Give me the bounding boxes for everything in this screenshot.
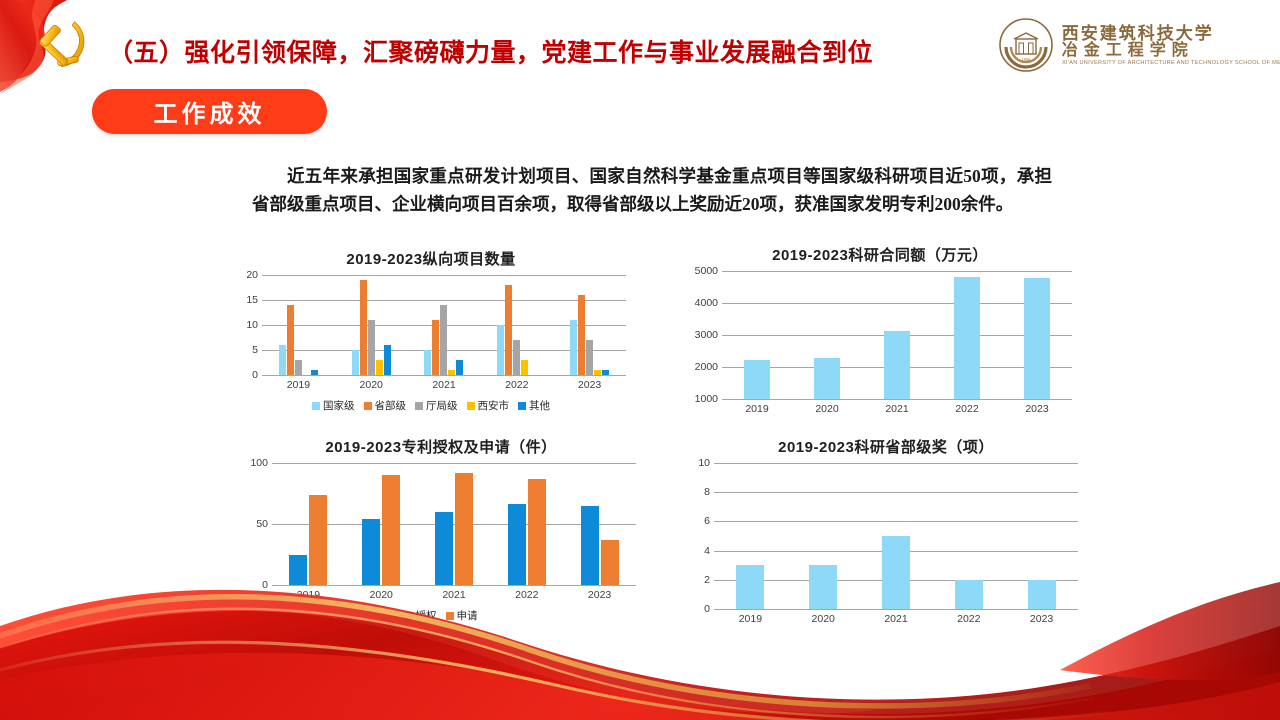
bar (376, 360, 383, 375)
bar (455, 473, 473, 585)
chart-plot-area: 10002000300040005000 (688, 271, 1072, 400)
bar-series-container (722, 271, 1072, 399)
y-axis-tick: 5 (252, 344, 258, 356)
bar (289, 555, 307, 586)
y-axis-tick: 100 (250, 457, 268, 469)
legend-item: 西安市 (467, 398, 510, 413)
y-axis-tick: 10 (246, 319, 258, 331)
university-seal-icon: 1956 (998, 17, 1054, 73)
bar (295, 360, 302, 375)
bar (352, 350, 359, 375)
university-name-line2: 冶金工程学院 (1062, 43, 1258, 60)
bar (601, 540, 619, 585)
bar-group (418, 463, 491, 585)
legend-item: 其他 (518, 398, 550, 413)
legend-item: 申请 (446, 608, 478, 623)
chart-legend: 授权申请 (246, 608, 636, 623)
bar (362, 519, 380, 585)
bar (384, 345, 391, 375)
bar-series-container (272, 463, 636, 585)
bar (360, 280, 367, 375)
hammer-sickle-emblem-icon (36, 18, 98, 80)
bar (602, 370, 609, 375)
x-axis-tick: 2022 (480, 379, 553, 391)
chart-provincial-awards: 2019-2023科研省部级奖（项）0246810201920202021202… (694, 436, 1078, 625)
slide: （五）强化引领保障，汇聚磅礴力量，党建工作与事业发展融合到位 工作成效 1956… (0, 0, 1280, 720)
x-axis-tick: 2022 (932, 613, 1005, 625)
bar-group (345, 463, 418, 585)
bar (882, 536, 910, 609)
x-axis-tick: 2021 (408, 379, 481, 391)
y-axis-tick: 6 (704, 515, 710, 527)
legend-label: 西安市 (478, 398, 510, 413)
bar (570, 320, 577, 375)
y-axis-tick: 3000 (695, 329, 718, 341)
university-name-line1: 西安建筑科技大学 (1062, 25, 1258, 43)
bar (578, 295, 585, 375)
y-axis-tick: 0 (704, 603, 710, 615)
legend-swatch (467, 402, 475, 410)
y-axis-tick: 8 (704, 486, 710, 498)
legend-item: 国家级 (312, 398, 355, 413)
x-axis-tick: 2021 (862, 403, 932, 415)
legend-item: 省部级 (364, 398, 407, 413)
chart-patents: 2019-2023专利授权及申请（件）050100201920202021202… (246, 436, 636, 623)
bar (497, 325, 504, 375)
chart-plot-area: 05101520 (236, 275, 626, 376)
bar (814, 358, 840, 399)
bar (1024, 278, 1050, 399)
y-axis-tick: 20 (246, 269, 258, 281)
y-axis: 05101520 (236, 275, 262, 375)
university-logo-text: 西安建筑科技大学 冶金工程学院 XI'AN UNIVERSITY OF ARCH… (1062, 25, 1258, 65)
bar (528, 479, 546, 585)
bar (586, 340, 593, 375)
chart-legend: 国家级省部级厅局级西安市其他 (236, 398, 626, 413)
bar (508, 504, 526, 585)
legend-label: 授权 (416, 608, 437, 623)
x-axis-tick: 2020 (335, 379, 408, 391)
legend-label: 申请 (457, 608, 478, 623)
bar-group (1005, 463, 1078, 609)
legend-swatch (518, 402, 526, 410)
y-axis-tick: 4000 (695, 297, 718, 309)
y-axis-tick: 0 (262, 579, 268, 591)
bar-group (714, 463, 787, 609)
bar (954, 277, 980, 399)
page-title: （五）强化引领保障，汇聚磅礴力量，党建工作与事业发展融合到位 (108, 33, 873, 69)
bar (744, 360, 770, 399)
university-name-english: XI'AN UNIVERSITY OF ARCHITECTURE AND TEC… (1062, 61, 1280, 67)
bar-group (480, 275, 553, 375)
plot-canvas (272, 463, 636, 586)
y-axis: 0246810 (694, 463, 714, 609)
bar (432, 320, 439, 375)
y-axis: 10002000300040005000 (688, 271, 722, 399)
x-axis: 20192020202120222023 (714, 613, 1078, 625)
x-axis-tick: 2020 (792, 403, 862, 415)
x-axis-tick: 2023 (553, 379, 626, 391)
y-axis-tick: 2 (704, 574, 710, 586)
legend-label: 其他 (529, 398, 550, 413)
bar-group (792, 271, 862, 399)
bar-group (272, 463, 345, 585)
x-axis-tick: 2020 (345, 589, 418, 601)
chart-title: 2019-2023纵向项目数量 (236, 248, 626, 269)
chart-title: 2019-2023科研省部级奖（项） (694, 436, 1078, 457)
bar-group (787, 463, 860, 609)
chart-title: 2019-2023专利授权及申请（件） (246, 436, 636, 457)
y-axis-tick: 5000 (695, 265, 718, 277)
bar (1028, 580, 1056, 609)
y-axis-tick: 50 (256, 518, 268, 530)
university-logo: 1956 西安建筑科技大学 冶金工程学院 XI'AN UNIVERSITY OF… (998, 17, 1258, 73)
body-paragraph: 近五年来承担国家重点研发计划项目、国家自然科学基金重点项目等国家级科研项目近50… (252, 162, 1052, 219)
y-axis-tick: 10 (698, 457, 710, 469)
legend-label: 省部级 (375, 398, 407, 413)
bar (809, 565, 837, 609)
x-axis-tick: 2019 (722, 403, 792, 415)
bar-group (860, 463, 933, 609)
legend-swatch (415, 402, 423, 410)
x-axis-tick: 2023 (1002, 403, 1072, 415)
x-axis-tick: 2022 (932, 403, 1002, 415)
y-axis-tick: 15 (246, 294, 258, 306)
bar (884, 331, 910, 399)
bar (287, 305, 294, 375)
bar (594, 370, 601, 375)
bar-group (1002, 271, 1072, 399)
bar-group (262, 275, 335, 375)
bar (456, 360, 463, 375)
bar (311, 370, 318, 375)
seal-year: 1956 (1021, 57, 1031, 62)
bar (521, 360, 528, 375)
chart-vertical-projects: 2019-2023纵向项目数量0510152020192020202120222… (236, 248, 626, 413)
bar (505, 285, 512, 375)
x-axis-tick: 2021 (418, 589, 491, 601)
bar (581, 506, 599, 585)
bar (368, 320, 375, 375)
bar (382, 475, 400, 585)
x-axis: 20192020202120222023 (272, 589, 636, 601)
bar-group (553, 275, 626, 375)
bar (309, 495, 327, 585)
legend-label: 国家级 (323, 398, 355, 413)
y-axis-tick: 1000 (695, 393, 718, 405)
bar-group (862, 271, 932, 399)
bar-group (563, 463, 636, 585)
x-axis-tick: 2019 (272, 589, 345, 601)
x-axis-tick: 2023 (1005, 613, 1078, 625)
legend-swatch (364, 402, 372, 410)
legend-swatch (312, 402, 320, 410)
x-axis-tick: 2020 (787, 613, 860, 625)
chart-title: 2019-2023科研合同额（万元） (688, 244, 1072, 265)
x-axis-tick: 2019 (262, 379, 335, 391)
legend-label: 厅局级 (426, 398, 458, 413)
bar-group (932, 463, 1005, 609)
y-axis: 050100 (246, 463, 272, 585)
legend-item: 授权 (405, 608, 437, 623)
plot-canvas (262, 275, 626, 376)
bar (955, 580, 983, 609)
chart-plot-area: 0246810 (694, 463, 1078, 610)
bar (448, 370, 455, 375)
bar-group (408, 275, 481, 375)
y-axis-tick: 2000 (695, 361, 718, 373)
legend-swatch (446, 612, 454, 620)
bottom-wave-decoration (0, 530, 1280, 720)
plot-canvas (722, 271, 1072, 400)
x-axis-tick: 2023 (563, 589, 636, 601)
bar-group (932, 271, 1002, 399)
y-axis-tick: 0 (252, 369, 258, 381)
legend-swatch (405, 612, 413, 620)
plot-canvas (714, 463, 1078, 610)
chart-contract-amount: 2019-2023科研合同额（万元）1000200030004000500020… (688, 244, 1072, 415)
bar (279, 345, 286, 375)
bar-group (335, 275, 408, 375)
x-axis: 20192020202120222023 (722, 403, 1072, 415)
x-axis: 20192020202120222023 (262, 379, 626, 391)
bar-series-container (714, 463, 1078, 609)
chart-plot-area: 050100 (246, 463, 636, 586)
bar-series-container (262, 275, 626, 375)
y-axis-tick: 4 (704, 545, 710, 557)
bar (424, 350, 431, 375)
bar-group (490, 463, 563, 585)
bar (440, 305, 447, 375)
legend-item: 厅局级 (415, 398, 458, 413)
status-badge: 工作成效 (92, 89, 327, 134)
x-axis-tick: 2022 (490, 589, 563, 601)
x-axis-tick: 2019 (714, 613, 787, 625)
x-axis-tick: 2021 (860, 613, 933, 625)
bar (513, 340, 520, 375)
bar (435, 512, 453, 585)
bar (736, 565, 764, 609)
bar-group (722, 271, 792, 399)
